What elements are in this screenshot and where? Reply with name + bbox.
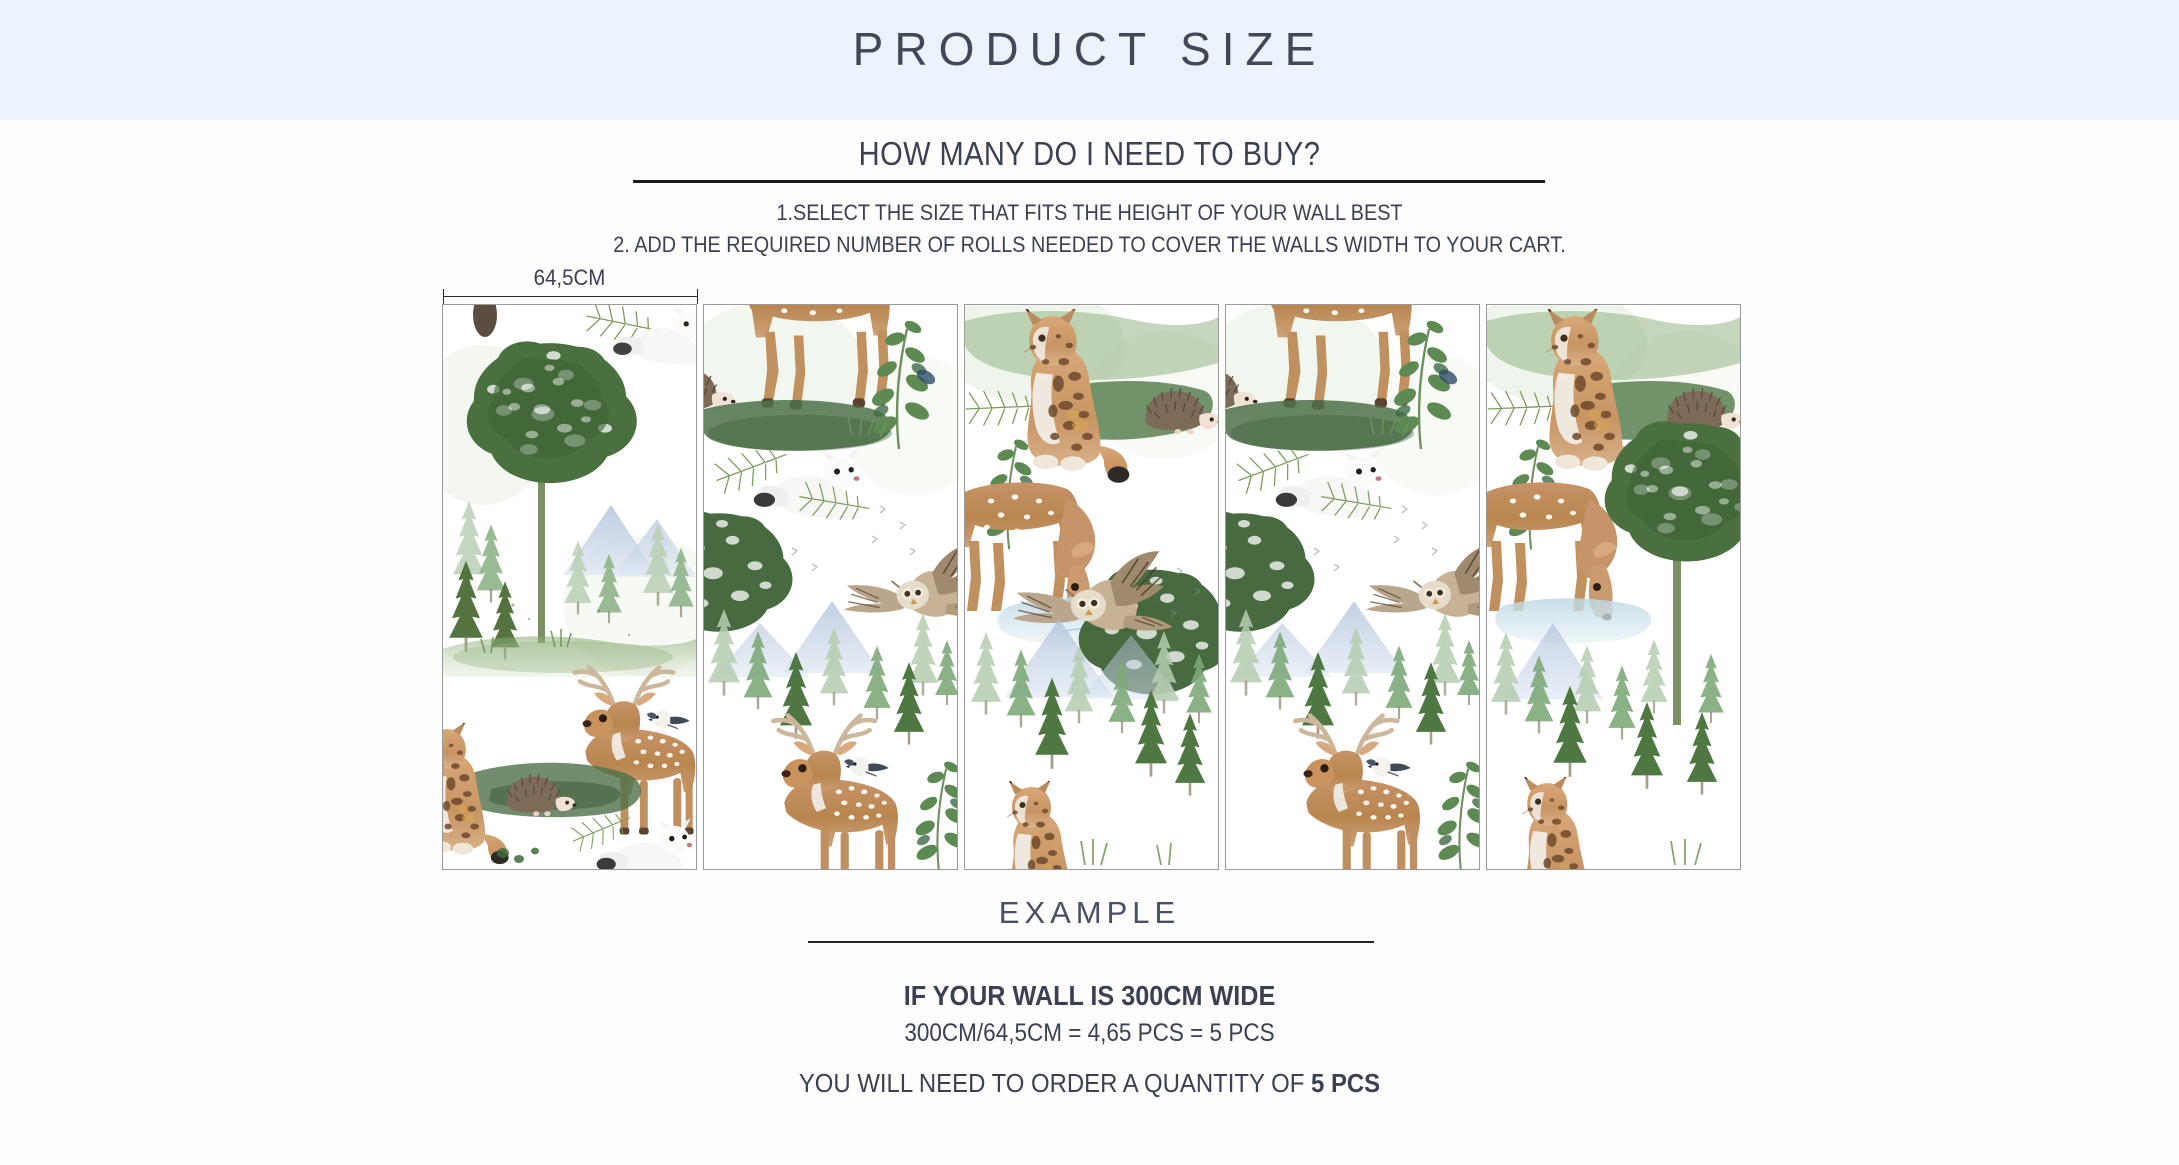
example-line-1: IF YOUR WALL IS 300CM WIDE	[109, 980, 2070, 1012]
section-heading: HOW MANY DO I NEED TO BUY?	[131, 135, 2049, 173]
wallpaper-roll-1[interactable]	[442, 304, 697, 870]
example-line-3-prefix: YOU WILL NEED TO ORDER A QUANTITY OF	[799, 1068, 1311, 1098]
wallpaper-roll-4[interactable]	[1225, 304, 1480, 870]
wallpaper-roll-3[interactable]	[964, 304, 1219, 870]
example-line-3: YOU WILL NEED TO ORDER A QUANTITY OF 5 P…	[87, 1068, 2092, 1099]
page-title: PRODUCT SIZE	[0, 22, 2179, 76]
roll-2-art	[704, 305, 957, 869]
wallpaper-roll-row	[442, 304, 1742, 870]
example-title: EXAMPLE	[0, 895, 2179, 931]
example-divider	[808, 941, 1374, 943]
roll-4-art	[1226, 305, 1479, 869]
measurement-label: 64,5CM	[451, 265, 688, 291]
example-quantity: 5 PCS	[1311, 1068, 1380, 1098]
wallpaper-roll-5[interactable]	[1486, 304, 1741, 870]
heading-divider	[633, 180, 1545, 183]
wallpaper-roll-2[interactable]	[703, 304, 958, 870]
instruction-1: 1.SELECT THE SIZE THAT FITS THE HEIGHT O…	[109, 200, 2070, 226]
roll-1-art	[443, 305, 696, 869]
roll-5-art	[1487, 305, 1740, 869]
measurement-tick-left	[443, 289, 444, 304]
instruction-2: 2. ADD THE REQUIRED NUMBER OF ROLLS NEED…	[109, 232, 2070, 258]
example-line-2: 300CM/64,5CM = 4,65 PCS = 5 PCS	[109, 1019, 2070, 1048]
measurement-bar	[443, 296, 698, 297]
roll-3-art	[965, 305, 1218, 869]
measurement-tick-right	[697, 289, 698, 304]
